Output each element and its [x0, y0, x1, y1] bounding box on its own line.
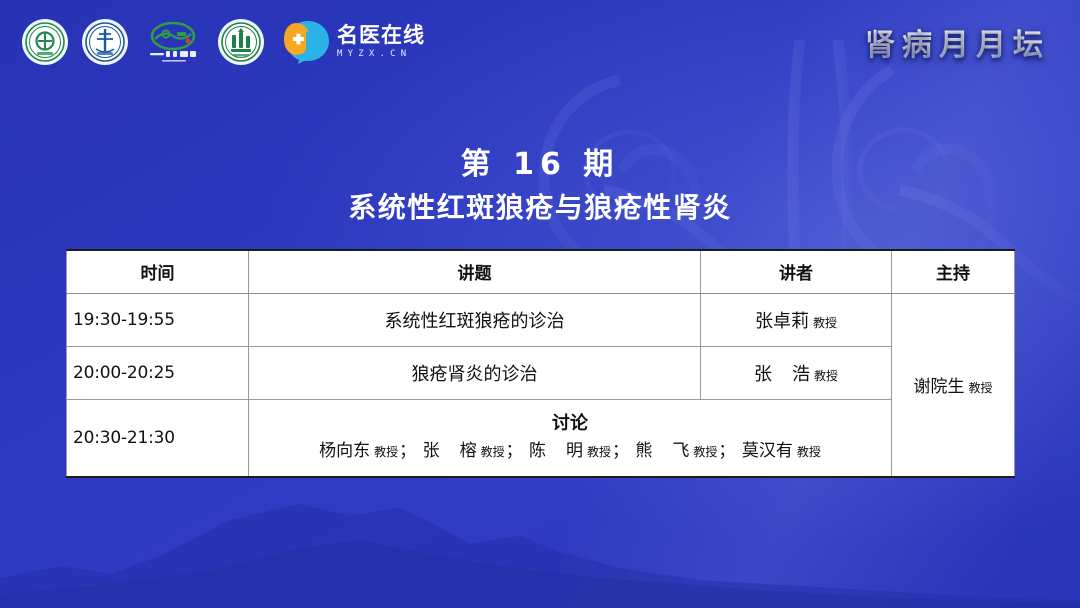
speaker-name: 张卓莉 [755, 311, 809, 332]
table-header-row: 时间 讲题 讲者 主持 [67, 250, 1015, 293]
table-row: 20:00-20:25 狼疮肾炎的诊治 张浩教授 [67, 346, 1015, 399]
hospital-logo-2-icon [82, 19, 128, 65]
panelist-givenname: 明 [566, 441, 583, 461]
panelist-separator: ； [399, 441, 416, 461]
panelist-surname: 熊 [635, 441, 652, 461]
schedule-table-container: 时间 讲题 讲者 主持 19:30-19:55 系统性红斑狼疮的诊治 张卓莉教授… [66, 249, 1014, 478]
brand-name-cn: 名医在线 [337, 25, 425, 46]
panelist: 杨向东教授 [319, 441, 398, 461]
host-cell: 谢院生教授 [892, 293, 1015, 477]
row-time: 20:00-20:25 [67, 346, 249, 399]
panelist: 熊飞教授 [635, 441, 717, 461]
row-speaker: 张卓莉教授 [701, 293, 892, 346]
panelist-title: 教授 [693, 445, 717, 459]
row-speaker: 张浩教授 [701, 346, 892, 399]
title-block: 第 16 期 系统性红斑狼疮与狼疮性肾炎 [0, 146, 1080, 226]
row-time: 19:30-19:55 [67, 293, 249, 346]
myzx-play-icon [282, 19, 330, 65]
panelist-list: 杨向东教授； 张榕教授； 陈明教授； 熊飞教授； 莫汉有教授 [255, 439, 885, 465]
speaker-title: 教授 [814, 369, 838, 383]
panelist-title: 教授 [374, 445, 398, 459]
panelist-surname: 莫汉有 [742, 441, 793, 461]
panelist: 陈明教授 [529, 441, 611, 461]
discussion-label: 讨论 [255, 411, 885, 437]
host-name: 谢院生 [913, 377, 964, 397]
academy-logo-icon [142, 20, 204, 64]
row-topic: 系统性红斑狼疮的诊治 [249, 293, 701, 346]
panelist-separator: ； [718, 441, 735, 461]
panelist-surname: 陈 [529, 441, 546, 461]
speaker-title: 教授 [813, 316, 837, 330]
slide-canvas: 名医在线 MYZX.CN 肾病月月坛 第 16 期 系统性红斑狼疮与狼疮性肾炎 … [0, 0, 1080, 608]
row-topic: 狼疮肾炎的诊治 [249, 346, 701, 399]
panelist-separator: ； [612, 441, 629, 461]
brand-logo: 名医在线 MYZX.CN [282, 19, 425, 65]
brand-name-en: MYZX.CN [337, 50, 425, 59]
panelist: 张榕教授 [423, 441, 505, 461]
discussion-cell: 讨论 杨向东教授； 张榕教授； 陈明教授； 熊飞教授； 莫汉有教授 [249, 399, 892, 477]
panelist-surname: 杨向东 [319, 441, 370, 461]
table-row: 19:30-19:55 系统性红斑狼疮的诊治 张卓莉教授 谢院生教授 [67, 293, 1015, 346]
panelist: 莫汉有教授 [742, 441, 821, 461]
speaker-givenname: 浩 [792, 364, 810, 385]
panelist-title: 教授 [481, 445, 505, 459]
panelist-separator: ； [506, 441, 523, 461]
session-subject: 系统性红斑狼疮与狼疮性肾炎 [0, 190, 1080, 226]
table-row-discussion: 20:30-21:30 讨论 杨向东教授； 张榕教授； 陈明教授； 熊飞教授； … [67, 399, 1015, 477]
forum-title: 肾病月月坛 [865, 20, 1054, 64]
host-title: 教授 [968, 381, 992, 395]
column-header-host: 主持 [892, 250, 1015, 293]
panelist-givenname: 飞 [672, 441, 689, 461]
hospital-logo-1-icon [22, 19, 68, 65]
panelist-surname: 张 [423, 441, 440, 461]
issue-number: 第 16 期 [0, 146, 1080, 184]
partner-logo-strip: 名医在线 MYZX.CN [22, 17, 425, 67]
slide-header: 名医在线 MYZX.CN 肾病月月坛 [0, 0, 1080, 84]
column-header-time: 时间 [67, 250, 249, 293]
schedule-table: 时间 讲题 讲者 主持 19:30-19:55 系统性红斑狼疮的诊治 张卓莉教授… [66, 249, 1015, 478]
panelist-title: 教授 [587, 445, 611, 459]
column-header-topic: 讲题 [249, 250, 701, 293]
hospital-logo-4-icon [218, 19, 264, 65]
panelist-title: 教授 [797, 445, 821, 459]
panelist-givenname: 榕 [460, 441, 477, 461]
row-time: 20:30-21:30 [67, 399, 249, 477]
speaker-surname: 张 [754, 364, 772, 385]
column-header-speaker: 讲者 [701, 250, 892, 293]
